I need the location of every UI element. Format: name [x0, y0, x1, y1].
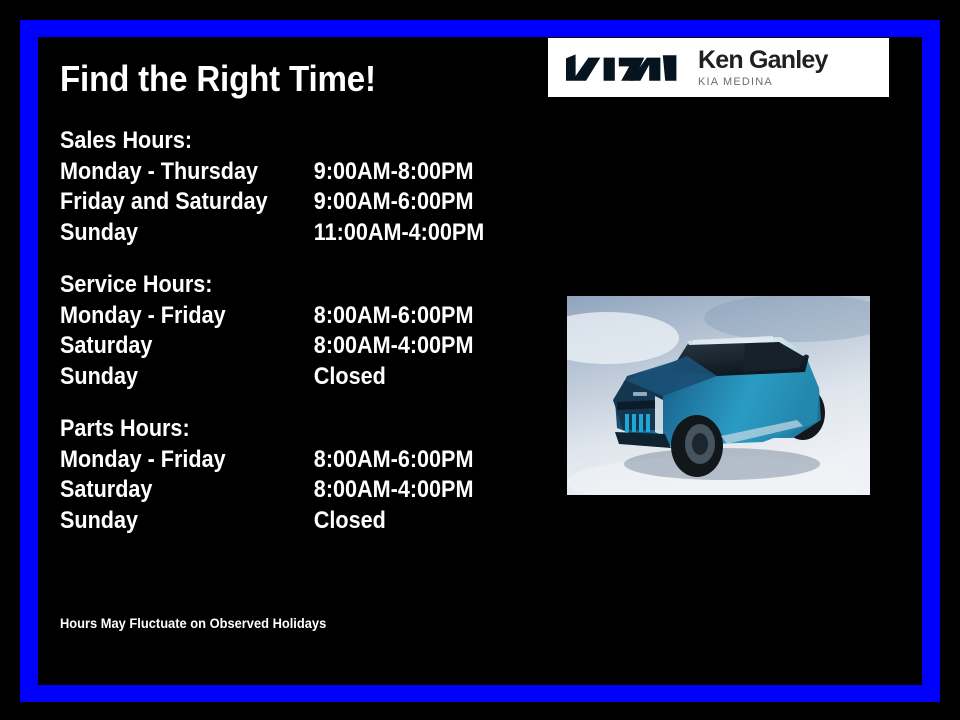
- hours-row: Saturday8:00AM-4:00PM: [60, 475, 492, 506]
- hours-row: Saturday8:00AM-4:00PM: [60, 331, 492, 362]
- hours-block-heading: Parts Hours:: [60, 414, 492, 445]
- hours-row-time: 9:00AM-6:00PM: [314, 187, 492, 218]
- kia-logo-icon: [562, 51, 682, 85]
- vehicle-photo: [567, 296, 870, 495]
- slide-canvas: Find the Right Time! Sales Hours:Monday …: [0, 0, 960, 720]
- hours-row-time: Closed: [314, 362, 492, 393]
- dealer-name: Ken Ganley: [698, 47, 828, 73]
- hours-row-days: Sunday: [60, 218, 314, 249]
- hours-row: Friday and Saturday9:00AM-6:00PM: [60, 187, 492, 218]
- hours-row-days: Saturday: [60, 331, 314, 362]
- hours-row-days: Monday - Thursday: [60, 157, 314, 188]
- hours-row-days: Friday and Saturday: [60, 187, 314, 218]
- hours-block: Sales Hours:Monday - Thursday9:00AM-8:00…: [60, 126, 540, 248]
- footer-note: Hours May Fluctuate on Observed Holidays: [60, 615, 326, 631]
- hours-row-days: Saturday: [60, 475, 314, 506]
- hours-list: Sales Hours:Monday - Thursday9:00AM-8:00…: [60, 126, 540, 536]
- hours-row-time: 9:00AM-8:00PM: [314, 157, 492, 188]
- hours-block: Parts Hours:Monday - Friday8:00AM-6:00PM…: [60, 414, 540, 536]
- hours-row: SundayClosed: [60, 506, 492, 537]
- hours-row-days: Monday - Friday: [60, 445, 314, 476]
- page-title: Find the Right Time!: [60, 58, 376, 100]
- hours-block-heading: Sales Hours:: [60, 126, 492, 157]
- dealer-wordmark: Ken Ganley KIA MEDINA: [698, 47, 828, 89]
- hours-row-days: Sunday: [60, 506, 314, 537]
- hours-row: Monday - Friday8:00AM-6:00PM: [60, 301, 492, 332]
- hours-block: Service Hours:Monday - Friday8:00AM-6:00…: [60, 270, 540, 392]
- hours-row: Monday - Thursday9:00AM-8:00PM: [60, 157, 492, 188]
- hours-row: Monday - Friday8:00AM-6:00PM: [60, 445, 492, 476]
- dealer-sublabel: KIA MEDINA: [698, 75, 828, 89]
- hours-row-time: 8:00AM-4:00PM: [314, 331, 492, 362]
- hours-row: Sunday11:00AM-4:00PM: [60, 218, 492, 249]
- kia-ev9-suv-illustration: [567, 296, 870, 495]
- hours-row-time: 8:00AM-6:00PM: [314, 301, 492, 332]
- hours-row-time: 8:00AM-4:00PM: [314, 475, 492, 506]
- hours-row-time: Closed: [314, 506, 492, 537]
- hours-block-heading: Service Hours:: [60, 270, 492, 301]
- hours-row-time: 11:00AM-4:00PM: [314, 218, 492, 249]
- hours-row-time: 8:00AM-6:00PM: [314, 445, 492, 476]
- dealer-logo-banner: Ken Ganley KIA MEDINA: [548, 38, 889, 97]
- hours-row-days: Sunday: [60, 362, 314, 393]
- hours-row-days: Monday - Friday: [60, 301, 314, 332]
- hours-row: SundayClosed: [60, 362, 492, 393]
